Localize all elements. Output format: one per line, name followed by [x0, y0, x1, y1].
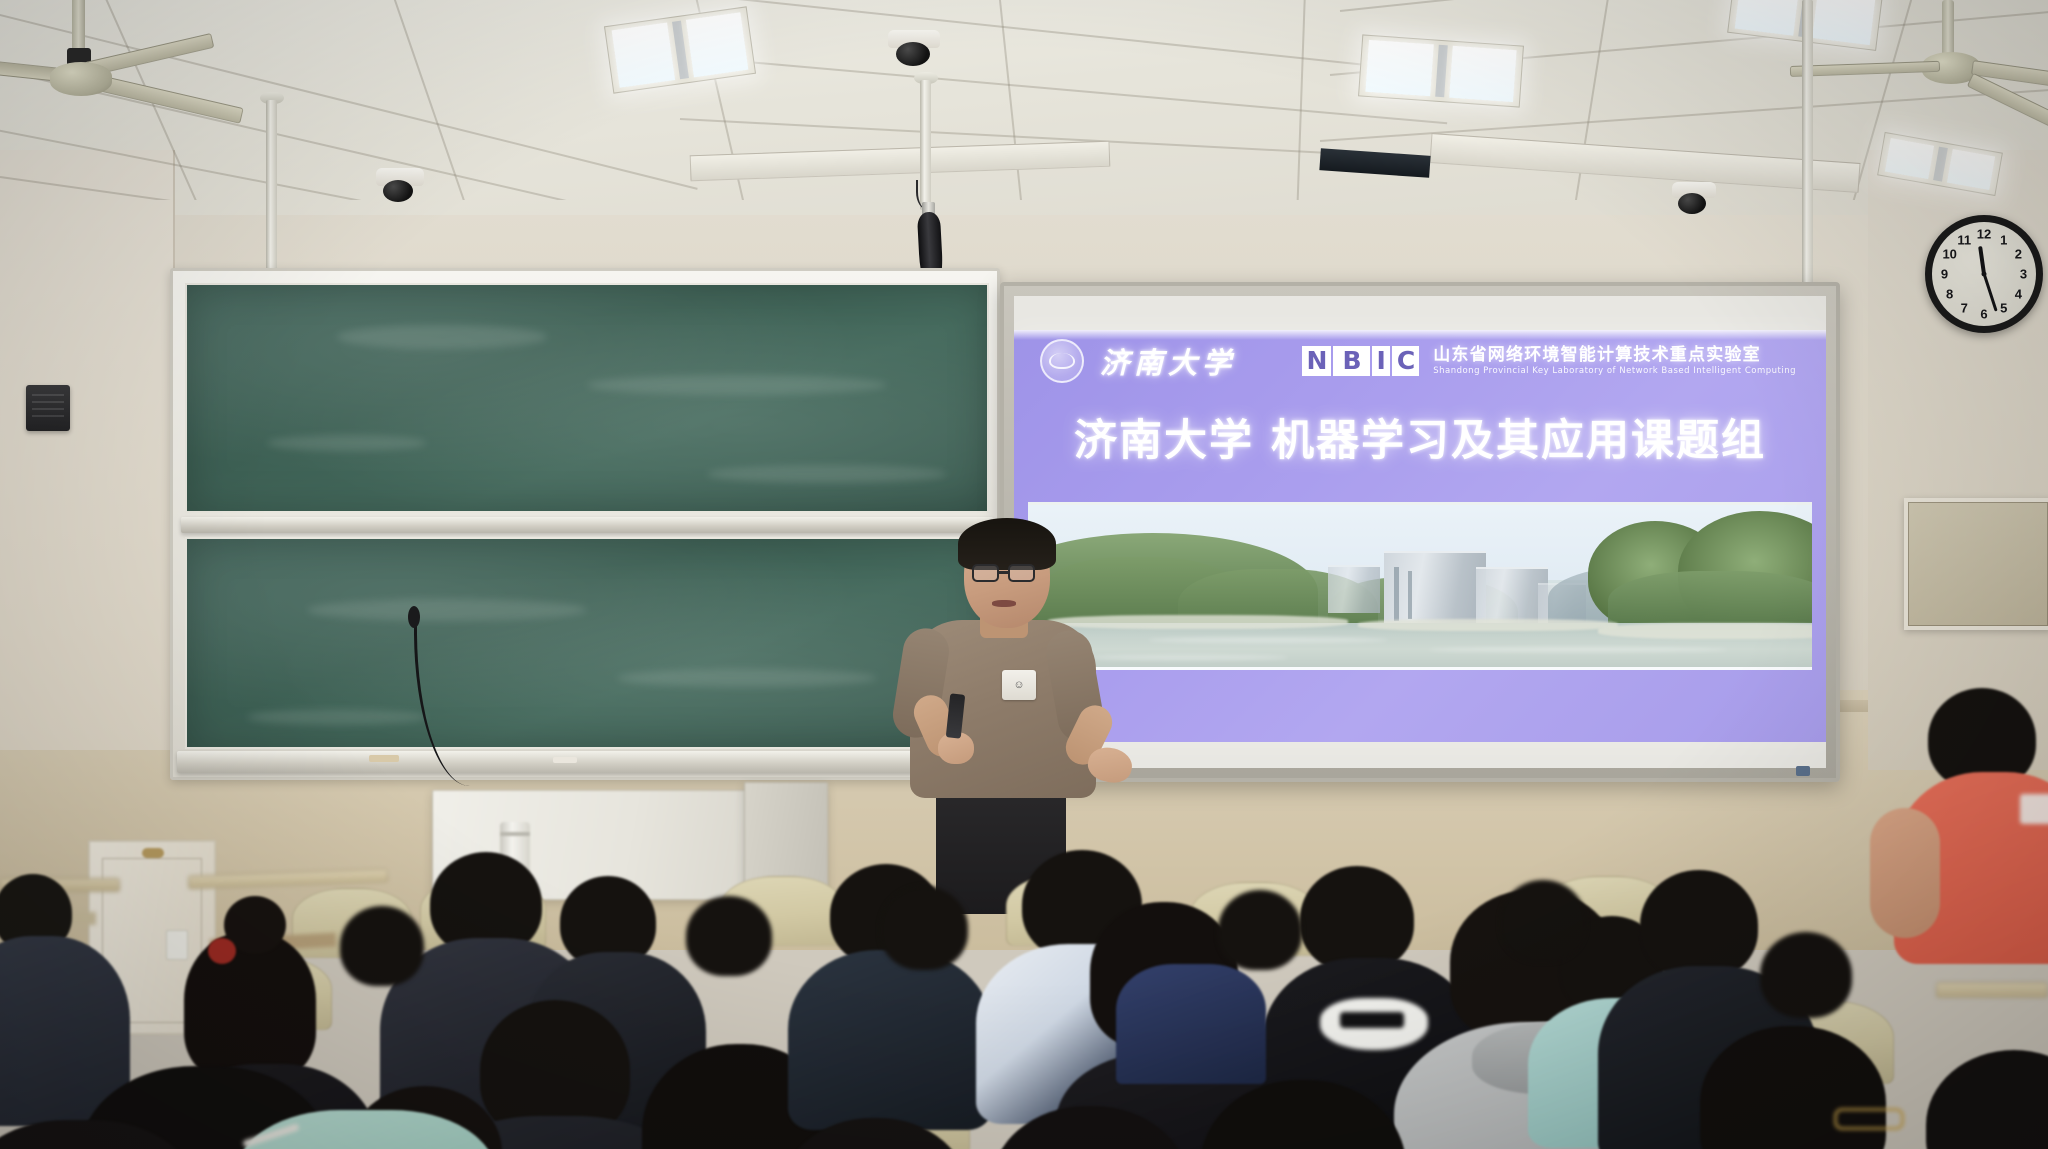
- security-camera: [1672, 182, 1716, 220]
- nbic-logo-icon: N B I C: [1302, 346, 1420, 376]
- university-emblem-icon: [1040, 339, 1084, 383]
- security-camera: [376, 168, 424, 208]
- nbic-letter-n: N: [1302, 346, 1332, 376]
- shirt-logo: [2020, 794, 2048, 824]
- chalkboard-divider-rail: [181, 517, 993, 533]
- clock-numeral: 10: [1942, 247, 1956, 262]
- desk-row: [1936, 982, 2048, 998]
- clock-numeral: 3: [2020, 267, 2027, 282]
- clock-numeral: 12: [1977, 227, 1991, 242]
- student-head: [340, 906, 424, 986]
- glasses-bridge: [998, 571, 1009, 574]
- presenter-mouth: [992, 600, 1016, 607]
- clock-numeral: 6: [1980, 306, 1987, 321]
- lab-branding: N B I C 山东省网络环境智能计算技术重点实验室 Shandong Prov…: [1302, 346, 1800, 377]
- glasses-right-lens: [1008, 564, 1035, 582]
- nbic-letter-b: B: [1333, 346, 1369, 376]
- clock-numeral: 7: [1961, 301, 1968, 316]
- lecture-hall-photo: 济南大学 N B I C 山东省网络环境智能计算技术重点实验室 Shandong…: [0, 0, 2048, 1149]
- clock-center-pin: [1982, 272, 1987, 277]
- chalkboard-panel-upper: [185, 283, 989, 513]
- clock-numeral: 11: [1957, 232, 1971, 247]
- student-head: [880, 886, 968, 970]
- nbic-letter-c: C: [1392, 346, 1419, 376]
- clock-numeral: 9: [1941, 267, 1948, 282]
- left-wall-panel: [0, 150, 175, 750]
- wall-clock: 12 1 2 3 4 5 6 7 8 9 10 11: [1925, 215, 2043, 333]
- student-head: [686, 896, 772, 976]
- name-badge: ☺: [1002, 670, 1036, 700]
- clock-hour-hand: [1978, 246, 1986, 274]
- clock-numeral: 1: [2000, 232, 2007, 247]
- seated-students: [0, 700, 2048, 1149]
- lab-name-english: Shandong Provincial Key Laboratory of Ne…: [1433, 367, 1796, 377]
- student-head: [1218, 890, 1302, 970]
- desk-row: [188, 869, 388, 890]
- hair-scrunchie: [208, 938, 236, 964]
- lab-name-chinese: 山东省网络环境智能计算技术重点实验室: [1433, 346, 1796, 365]
- wall-speaker: [26, 385, 70, 431]
- wall-notice-board: [1904, 498, 2048, 630]
- nbic-letter-i: I: [1372, 346, 1390, 376]
- glasses: [1834, 1108, 1904, 1130]
- security-camera: [888, 30, 940, 74]
- presenter-hair: [958, 518, 1056, 570]
- slide-title: 济南大学 机器学习及其应用课题组: [1014, 392, 1826, 468]
- university-name: 济南大学: [1100, 340, 1236, 382]
- ceiling-fan: [1850, 0, 2048, 150]
- ceiling-mic-pole: [1800, 0, 1816, 330]
- clock-numeral: 8: [1946, 286, 1953, 301]
- student-head: [1500, 880, 1586, 962]
- clock-numeral: 4: [2015, 286, 2022, 301]
- ceiling-fan: [20, 0, 280, 150]
- clock-numeral: 2: [2015, 247, 2022, 262]
- student-head: [1760, 932, 1852, 1018]
- student-arm: [1870, 808, 1940, 938]
- ceiling-light-panel: [1358, 34, 1524, 107]
- glasses-left-lens: [972, 564, 999, 582]
- clock-numeral: 5: [2000, 301, 2007, 316]
